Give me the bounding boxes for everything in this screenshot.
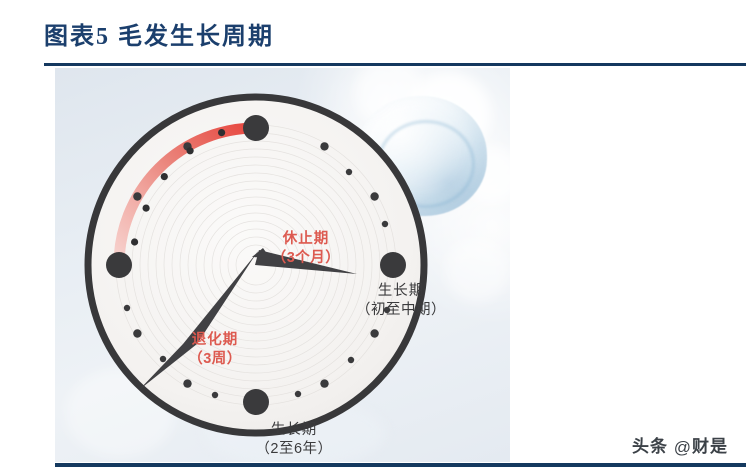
label-anagen-early: 生长期 （初至中期） [331,282,471,319]
watermark-at-icon: @ [674,438,692,458]
label-anagen-full: 生长期 （2至6年） [224,421,364,458]
label-anagen-early-line1: 生长期 [331,282,471,301]
label-anagen-full-line2: （2至6年） [224,440,364,459]
watermark-handle: 财是 [692,437,728,456]
figure-page: 图表5 毛发生长周期 [0,0,746,472]
figure-divider-bottom [55,463,746,467]
clock-marker-6 [243,389,269,415]
label-anagen-early-line2: （初至中期） [331,301,471,320]
page-title: 图表5 毛发生长周期 [44,16,274,51]
clock-marker-9 [106,252,132,278]
label-catagen-line1: 退化期 [160,331,270,350]
hair-cycle-clock: 休止期 （3个月） 退化期 （3周） 生长期 （初至中期） 生长期 （2至6年） [73,82,439,448]
figure-photo: 休止期 （3个月） 退化期 （3周） 生长期 （初至中期） 生长期 （2至6年） [55,68,510,462]
label-telogen-line1: 休止期 [246,230,366,249]
label-catagen-line2: （3周） [160,350,270,369]
watermark: 头条 @财是 [632,432,728,457]
clock-marker-3 [380,252,406,278]
title-divider-top [44,63,746,66]
label-anagen-full-line1: 生长期 [224,421,364,440]
label-telogen-line2: （3个月） [246,249,366,268]
clock-marker-12 [243,115,269,141]
label-telogen: 休止期 （3个月） [246,230,366,267]
label-catagen: 退化期 （3周） [160,331,270,368]
watermark-prefix: 头条 [632,437,668,456]
